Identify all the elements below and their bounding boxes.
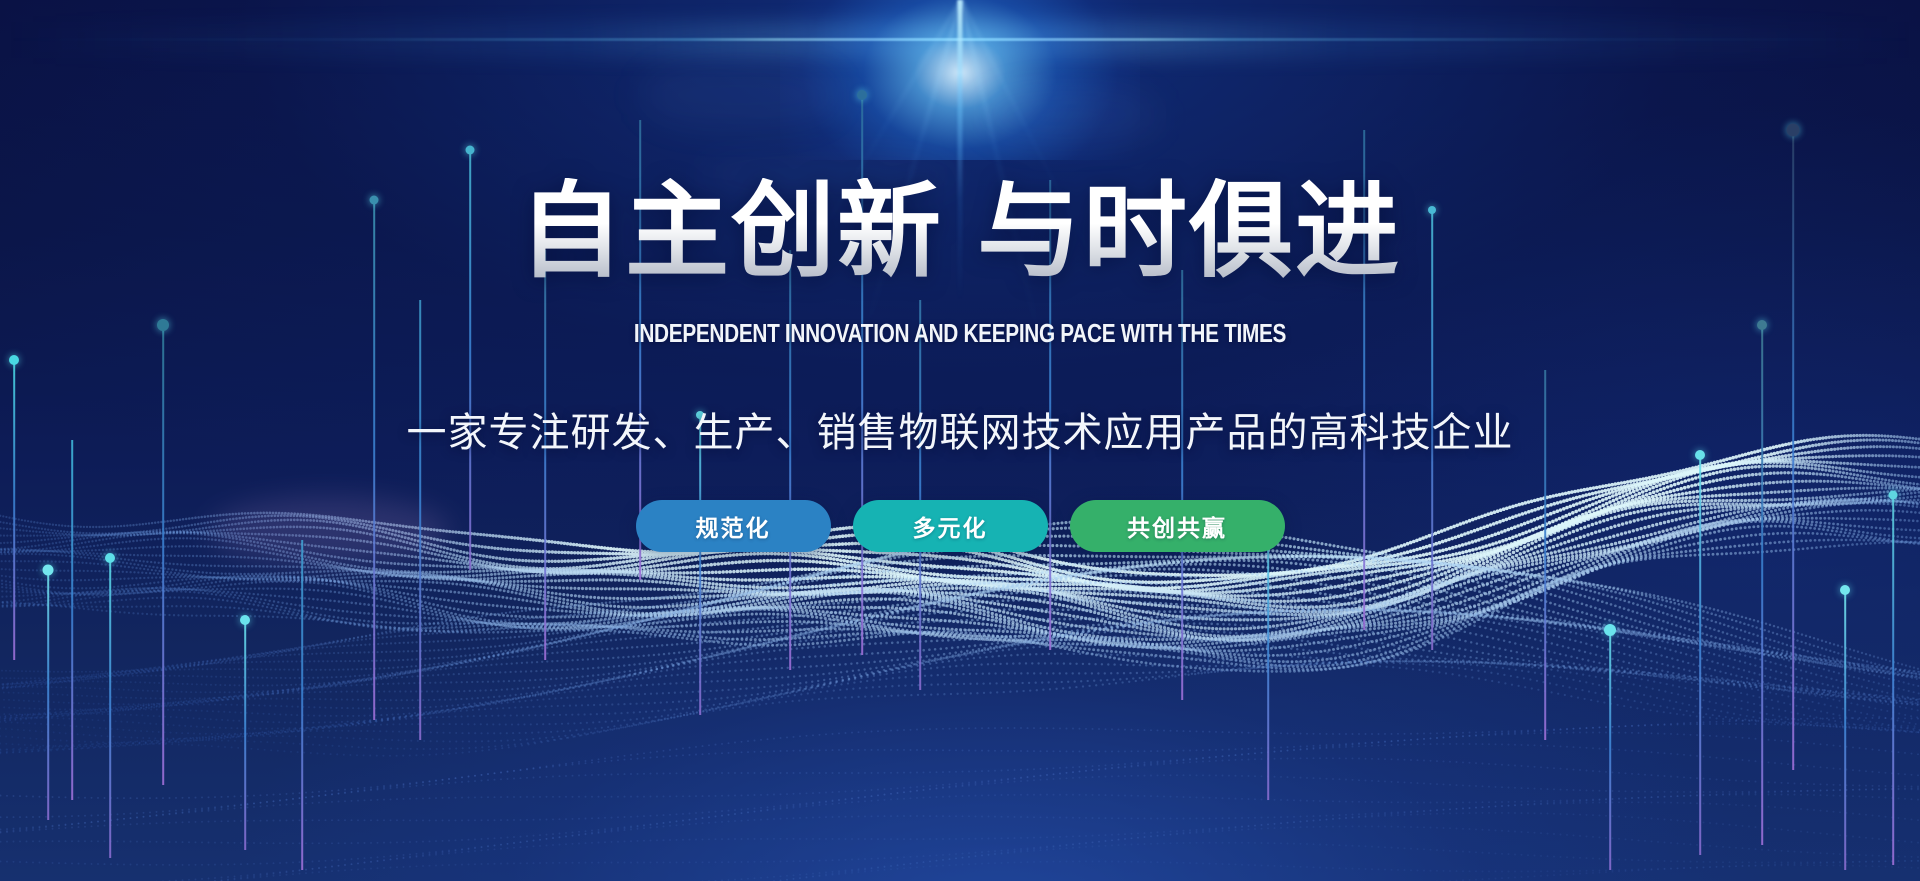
pin-head-dot bbox=[1757, 320, 1767, 330]
pin-stem bbox=[244, 620, 246, 850]
pin-stem bbox=[861, 95, 863, 655]
pin-head-dot bbox=[370, 196, 379, 205]
pin-head-dot bbox=[1428, 206, 1436, 214]
pin-stem bbox=[1761, 325, 1763, 845]
pin-head-dot bbox=[9, 355, 19, 365]
pin-stem bbox=[1544, 370, 1546, 740]
pin-stem bbox=[919, 300, 921, 690]
pin-stem bbox=[1363, 130, 1365, 630]
pin-head-dot bbox=[466, 146, 475, 155]
pin-stem bbox=[373, 200, 375, 720]
pin-head-dot bbox=[43, 565, 54, 576]
pin-stem bbox=[162, 325, 164, 785]
pin-head-dot bbox=[1695, 450, 1705, 460]
pin-stem bbox=[1844, 590, 1846, 870]
pin-head-dot bbox=[157, 319, 169, 331]
pin-stem bbox=[1181, 270, 1183, 700]
feature-pill-group: 规范化多元化共创共赢 bbox=[0, 500, 1920, 552]
feature-pill-2[interactable]: 多元化 bbox=[853, 500, 1048, 552]
pin-head-dot bbox=[1840, 585, 1850, 595]
pin-head-dot bbox=[1889, 491, 1898, 500]
hero-banner: 自主创新与时俱进 INDEPENDENT INNOVATION AND KEEP… bbox=[0, 0, 1920, 881]
pin-stem bbox=[699, 415, 701, 715]
pin-stem bbox=[1792, 130, 1794, 770]
pin-stem bbox=[1609, 630, 1611, 870]
pin-stem bbox=[47, 570, 49, 820]
pin-stem bbox=[789, 250, 791, 670]
pin-head-dot bbox=[696, 411, 704, 419]
pin-stem bbox=[71, 440, 73, 800]
pin-stem bbox=[544, 250, 546, 660]
pin-marker-layer bbox=[0, 0, 1920, 881]
pin-head-dot bbox=[857, 90, 867, 100]
pin-stem bbox=[109, 558, 111, 858]
pin-stem bbox=[1431, 210, 1433, 650]
pin-head-dot bbox=[1604, 624, 1616, 636]
pin-head-dot bbox=[1787, 124, 1800, 137]
feature-pill-3[interactable]: 共创共赢 bbox=[1070, 500, 1285, 552]
pin-head-dot bbox=[105, 553, 115, 563]
pin-stem bbox=[1049, 180, 1051, 650]
pin-head-dot bbox=[240, 615, 250, 625]
feature-pill-1[interactable]: 规范化 bbox=[636, 500, 831, 552]
pin-stem bbox=[301, 540, 303, 870]
pin-stem bbox=[1267, 520, 1269, 800]
